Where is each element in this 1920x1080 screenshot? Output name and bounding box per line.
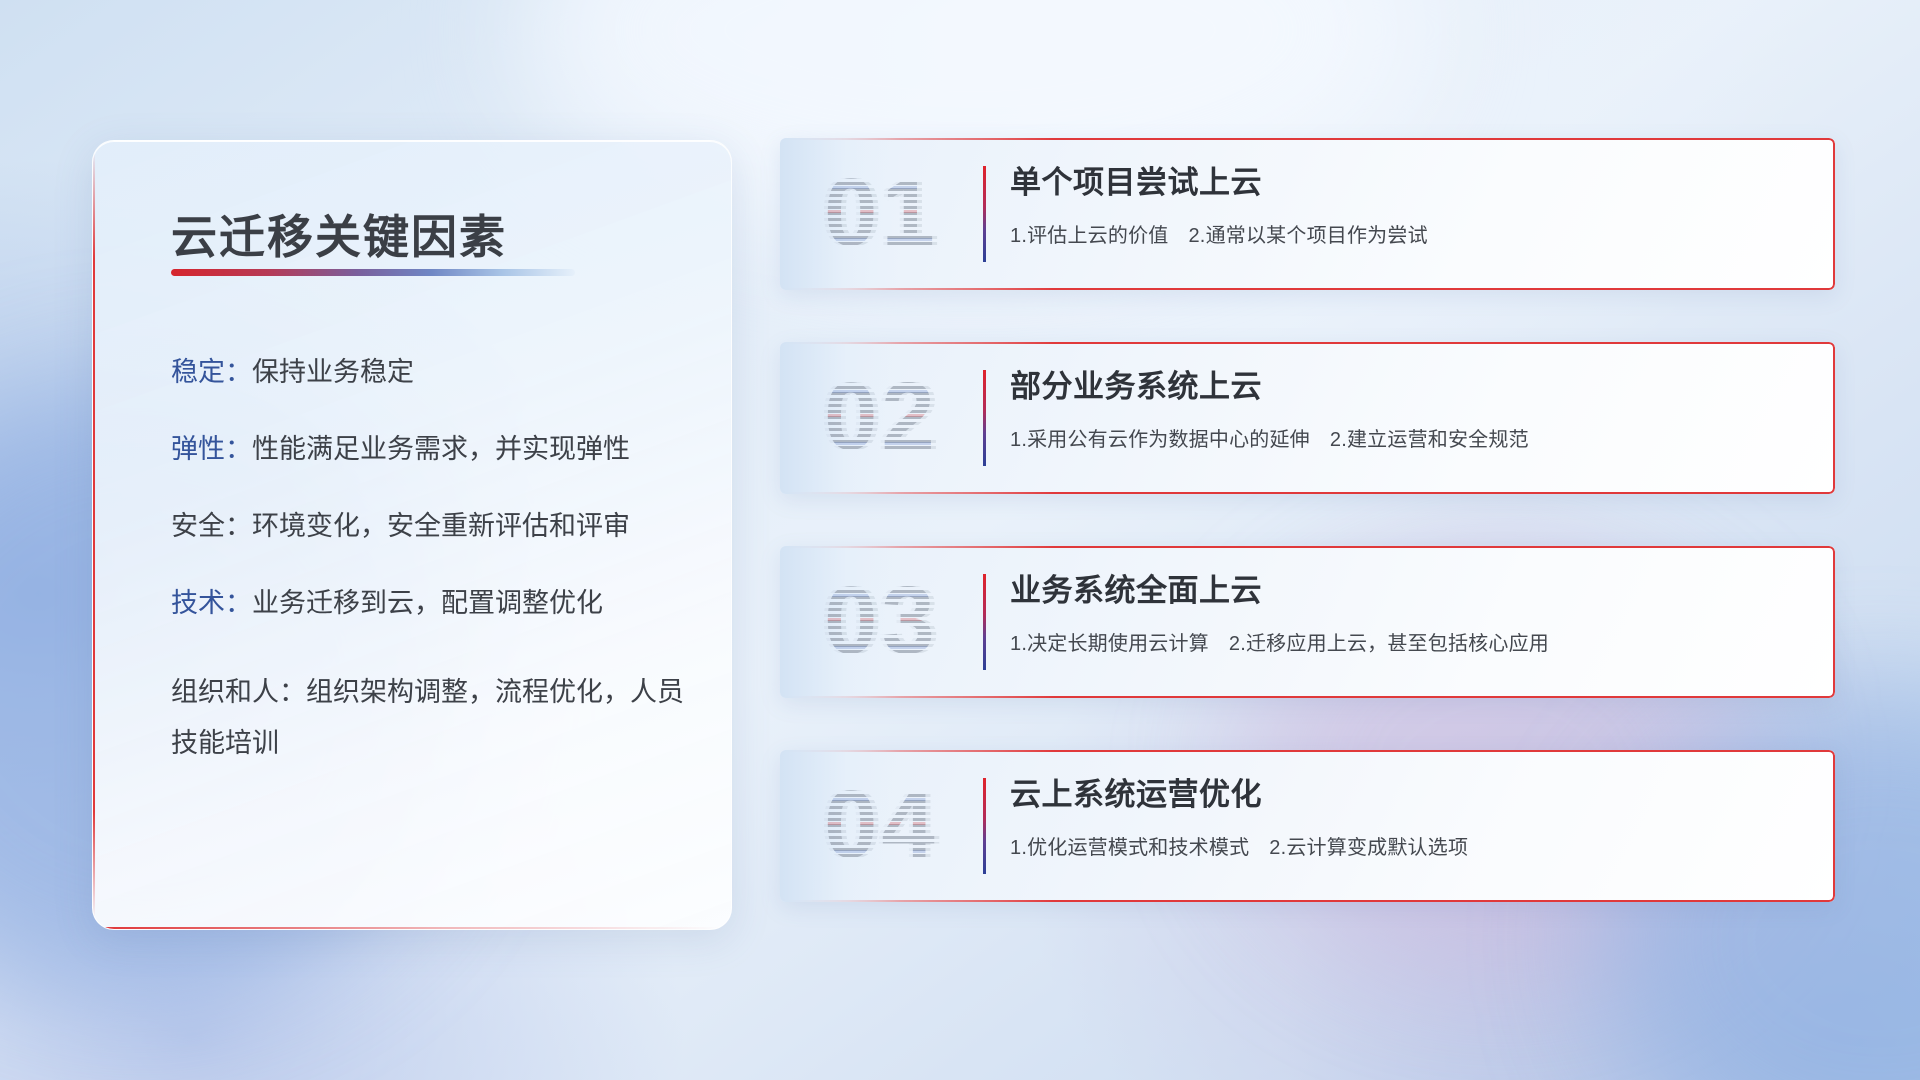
accent-bar-icon [983,574,986,670]
stage-title: 单个项目尝试上云 [1010,164,1805,203]
title-underline-gradient [171,269,575,276]
factor-row: 稳定：保持业务稳定 [171,359,691,386]
stage-point-1: 1.优化运营模式和技术模式 [1010,837,1249,859]
stage-card-body: 云上系统运营优化 1.优化运营模式和技术模式2.云计算变成默认选项 [1010,776,1805,860]
factor-label: 稳定： [171,357,252,387]
stage-card[interactable]: 04 04 04 云上系统运营优化 1.优化运营模式和技术模式2.云计算变成默认… [780,750,1835,902]
stage-point-2: 2.云计算变成默认选项 [1269,837,1468,859]
stage-point-1: 1.评估上云的价值 [1010,225,1168,247]
stage-card[interactable]: 02 02 02 部分业务系统上云 1.采用公有云作为数据中心的延伸2.建立运营… [780,342,1835,494]
stage-description: 1.优化运营模式和技术模式2.云计算变成默认选项 [1010,831,1805,860]
slide-canvas: 云迁移关键因素 稳定：保持业务稳定 弹性：性能满足业务需求，并实现弹性 安全：环… [0,0,1920,1080]
stage-point-2: 2.通常以某个项目作为尝试 [1188,225,1427,247]
factor-label: 组织和人： [171,677,306,707]
stage-number-blue-lines: 04 [824,764,1004,886]
factor-label: 安全： [171,511,252,541]
accent-bar-icon [983,166,986,262]
factor-label: 弹性： [171,434,252,464]
stage-point-2: 2.建立运营和安全规范 [1330,429,1529,451]
accent-bar-icon [983,778,986,874]
stage-point-1: 1.决定长期使用云计算 [1010,633,1209,655]
stage-number-blue-lines: 01 [824,152,1004,274]
page-title: 云迁移关键因素 [171,201,507,267]
factor-row: 安全：环境变化，安全重新评估和评审 [171,513,691,540]
stage-description: 1.评估上云的价值2.通常以某个项目作为尝试 [1010,219,1805,248]
factor-row: 弹性：性能满足业务需求，并实现弹性 [171,436,691,463]
factor-text: 性能满足业务需求，并实现弹性 [252,434,630,464]
accent-bar-icon [983,370,986,466]
stage-card[interactable]: 03 03 03 业务系统全面上云 1.决定长期使用云计算2.迁移应用上云，甚至… [780,546,1835,698]
migration-stage-cards: 01 01 01 单个项目尝试上云 1.评估上云的价值2.通常以某个项目作为尝试… [780,138,1835,954]
stage-point-2: 2.迁移应用上云，甚至包括核心应用 [1229,633,1549,655]
stage-description: 1.采用公有云作为数据中心的延伸2.建立运营和安全规范 [1010,423,1805,452]
stage-title: 云上系统运营优化 [1010,776,1805,815]
factor-text: 环境变化，安全重新评估和评审 [252,511,630,541]
factor-list: 稳定：保持业务稳定 弹性：性能满足业务需求，并实现弹性 安全：环境变化，安全重新… [171,359,691,819]
stage-card-body: 单个项目尝试上云 1.评估上云的价值2.通常以某个项目作为尝试 [1010,164,1805,248]
factor-row: 组织和人：组织架构调整，流程优化，人员技能培训 [171,667,691,769]
stage-number-blue-lines: 02 [824,356,1004,478]
stage-card-body: 业务系统全面上云 1.决定长期使用云计算2.迁移应用上云，甚至包括核心应用 [1010,572,1805,656]
stage-number-blue-lines: 03 [824,560,1004,682]
stage-point-1: 1.采用公有云作为数据中心的延伸 [1010,429,1310,451]
factor-text: 业务迁移到云，配置调整优化 [252,588,603,618]
stage-card[interactable]: 01 01 01 单个项目尝试上云 1.评估上云的价值2.通常以某个项目作为尝试 [780,138,1835,290]
stage-title: 部分业务系统上云 [1010,368,1805,407]
factor-text: 保持业务稳定 [252,357,414,387]
factor-label: 技术： [171,588,252,618]
stage-card-body: 部分业务系统上云 1.采用公有云作为数据中心的延伸2.建立运营和安全规范 [1010,368,1805,452]
stage-title: 业务系统全面上云 [1010,572,1805,611]
key-factors-panel: 云迁移关键因素 稳定：保持业务稳定 弹性：性能满足业务需求，并实现弹性 安全：环… [92,140,732,930]
stage-description: 1.决定长期使用云计算2.迁移应用上云，甚至包括核心应用 [1010,627,1805,656]
factor-row: 技术：业务迁移到云，配置调整优化 [171,590,691,617]
